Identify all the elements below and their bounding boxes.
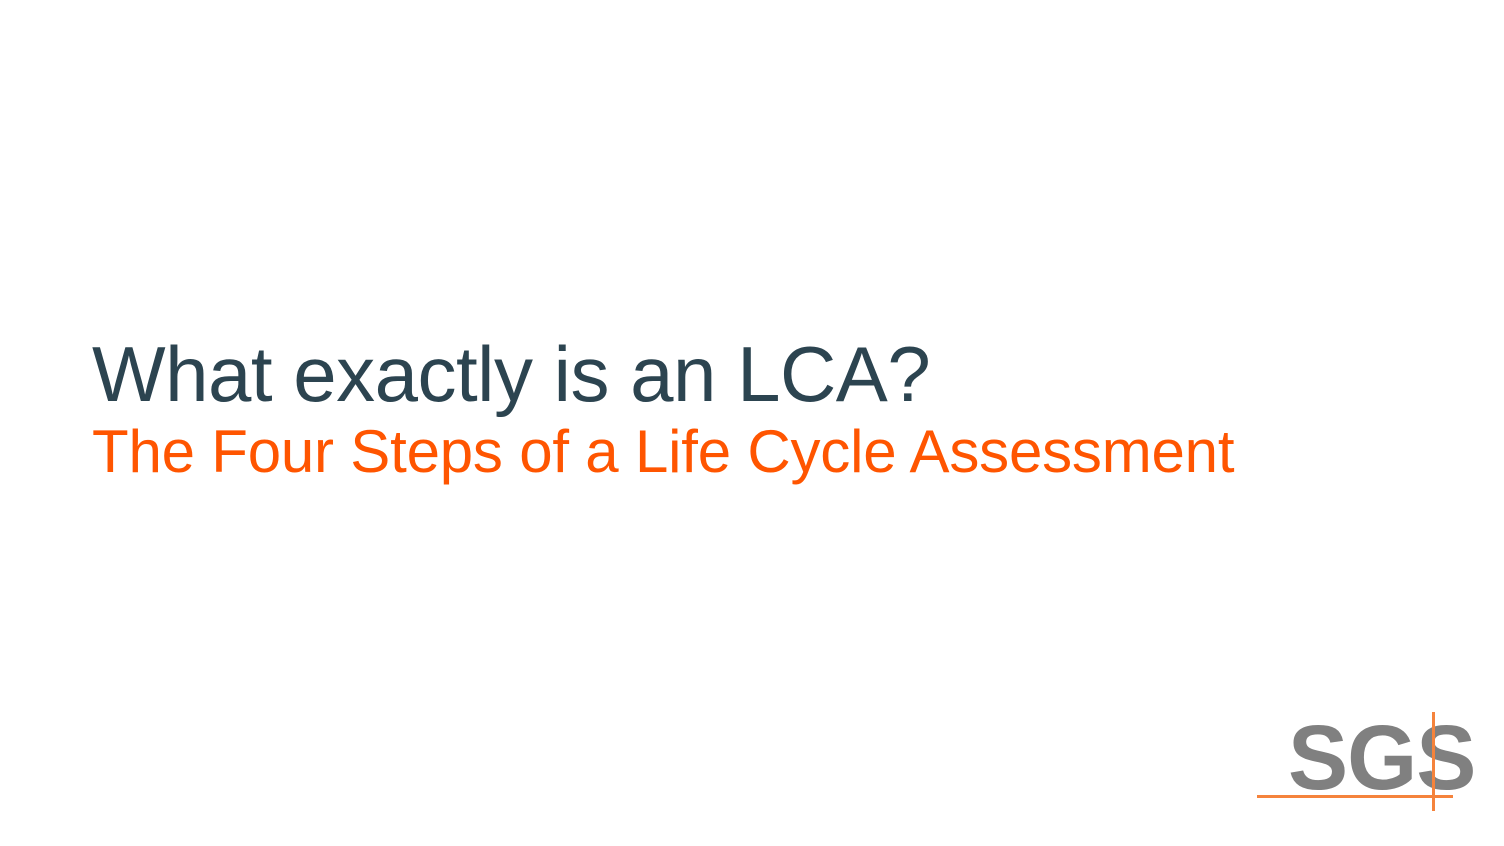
presentation-slide: What exactly is an LCA? The Four Steps o…	[0, 0, 1504, 846]
title-block: What exactly is an LCA? The Four Steps o…	[92, 332, 1342, 488]
page-title: What exactly is an LCA?	[92, 332, 1342, 416]
sgs-logo: SGS	[1255, 706, 1455, 814]
logo-horizontal-rule-icon	[1257, 795, 1453, 798]
page-subtitle: The Four Steps of a Life Cycle Assessmen…	[92, 416, 1342, 488]
logo-vertical-rule-icon	[1432, 712, 1435, 811]
sgs-wordmark: SGS	[1288, 712, 1475, 804]
